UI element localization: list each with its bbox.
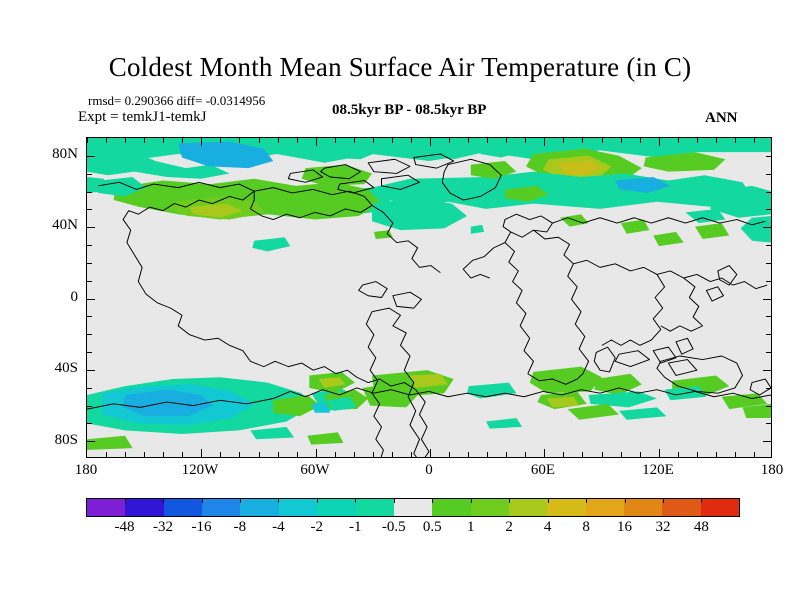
colorbar-cell — [547, 499, 585, 516]
colorbar-cell — [87, 499, 125, 516]
x-tick-label-120e: 120E — [618, 462, 698, 479]
colorbar-cell — [125, 499, 163, 516]
x-tick-label-180w: 180 — [46, 462, 126, 479]
season-label: ANN — [705, 110, 738, 127]
y-tick-label-40s: 40S — [22, 360, 78, 377]
colorbar-cell — [586, 499, 624, 516]
colorbar-cell — [624, 499, 662, 516]
colorbar-cell — [164, 499, 202, 516]
colorbar-cell — [240, 499, 278, 516]
colorbar-cell — [356, 499, 394, 516]
colorbar-cell — [317, 499, 355, 516]
colorbar-cell — [432, 499, 470, 516]
y-tick-label-0: 0 — [22, 289, 78, 306]
x-tick-label-180e: 180 — [732, 462, 800, 479]
colorbar-label: 48 — [673, 519, 729, 536]
world-map — [87, 138, 771, 457]
y-tick-label-80n: 80N — [22, 146, 78, 163]
y-tick-label-40n: 40N — [22, 217, 78, 234]
colorbar-cell — [394, 499, 432, 516]
map-plot-area — [86, 137, 772, 458]
x-tick-label-60w: 60W — [275, 462, 355, 479]
x-tick-label-120w: 120W — [160, 462, 240, 479]
colorbar-cell — [701, 499, 739, 516]
x-tick-label-60e: 60E — [503, 462, 583, 479]
rmsd-annotation: rmsd= 0.290366 diff= -0.0314956 — [88, 93, 265, 109]
experiment-label: Expt = temkJ1-temkJ — [78, 109, 206, 126]
period-label: 08.5kyr BP - 08.5kyr BP — [332, 102, 486, 119]
colorbar-cell — [509, 499, 547, 516]
colorbar-cell — [279, 499, 317, 516]
x-tick-label-0: 0 — [389, 462, 469, 479]
colorbar — [86, 498, 740, 517]
colorbar-cell — [202, 499, 240, 516]
colorbar-cell — [662, 499, 700, 516]
colorbar-cell — [471, 499, 509, 516]
y-tick-label-80s: 80S — [22, 432, 78, 449]
chart-title: Coldest Month Mean Surface Air Temperatu… — [0, 52, 800, 83]
